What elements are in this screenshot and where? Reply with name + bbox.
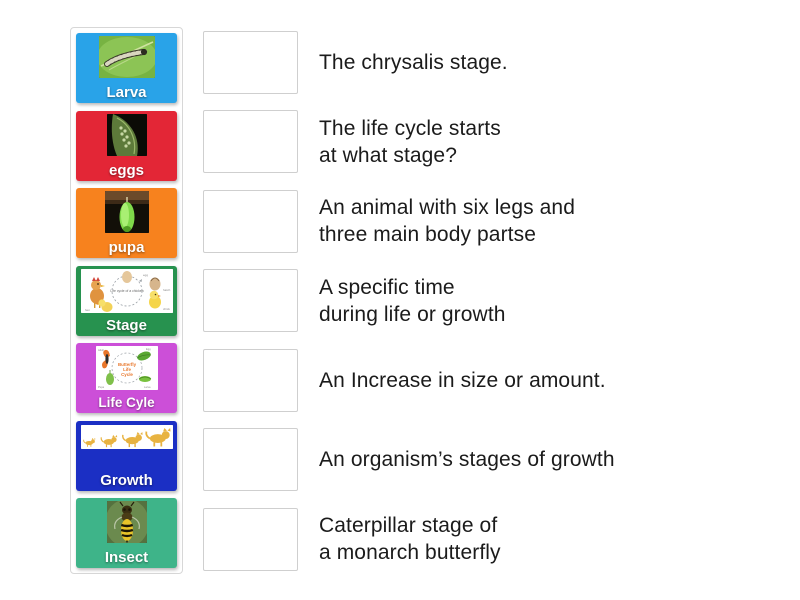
dropbox-5[interactable] [203, 428, 298, 491]
tile-label: Stage [76, 317, 177, 335]
green-chrysalis-icon [105, 191, 149, 233]
matching-activity-screen: Larva eggs [0, 0, 800, 600]
tile-insect[interactable]: Insect [76, 498, 177, 568]
svg-text:Pupa: Pupa [98, 385, 105, 389]
cat-growth-stages-diagram-icon [81, 425, 173, 449]
definition-text: An organism’s stages of growth [319, 446, 615, 473]
tile-growth[interactable]: Growth [76, 421, 177, 491]
svg-text:hen: hen [85, 308, 90, 312]
definition-text: The life cycle starts at what stage? [319, 115, 501, 169]
definition-text: An animal with six legs and three main b… [319, 194, 575, 248]
match-row: The life cycle starts at what stage? [203, 107, 763, 177]
tile-label: pupa [76, 239, 177, 257]
definition-text: Caterpillar stage of a monarch butterfly [319, 512, 501, 566]
tile-label: Larva [76, 84, 177, 102]
tile-panel: Larva eggs [70, 27, 183, 574]
dropbox-6[interactable] [203, 508, 298, 571]
definition-text: An Increase in size or amount. [319, 367, 606, 394]
svg-text:hatch: hatch [163, 288, 171, 292]
dropbox-0[interactable] [203, 31, 298, 94]
svg-text:Cycle: Cycle [121, 372, 133, 377]
match-row: Caterpillar stage of a monarch butterfly [203, 504, 763, 574]
caterpillar-on-leaf-icon [99, 36, 155, 78]
svg-text:Adult: Adult [98, 348, 104, 352]
tile-larva[interactable]: Larva [76, 33, 177, 103]
dropbox-4[interactable] [203, 349, 298, 412]
definition-rows: The chrysalis stage. The life cycle star… [203, 27, 763, 574]
svg-text:Larva: Larva [144, 385, 151, 389]
definition-text: A specific time during life or growth [319, 274, 506, 328]
tile-pupa[interactable]: pupa [76, 188, 177, 258]
svg-text:egg: egg [143, 273, 148, 277]
svg-text:chick: chick [163, 307, 170, 311]
match-row: A specific time during life or growth [203, 266, 763, 336]
definition-text: The chrysalis stage. [319, 49, 508, 76]
dropbox-2[interactable] [203, 190, 298, 253]
tile-eggs[interactable]: eggs [76, 111, 177, 181]
tile-label: eggs [76, 162, 177, 180]
dropbox-1[interactable] [203, 110, 298, 173]
match-row: An animal with six legs and three main b… [203, 186, 763, 256]
match-row: An Increase in size or amount. [203, 345, 763, 415]
tile-label: Life Cyle [76, 394, 177, 412]
butterfly-life-cycle-diagram-icon: Butterfly Life Cycle Adult Egg Larva Pup… [96, 346, 158, 390]
dropbox-3[interactable] [203, 269, 298, 332]
match-row: An organism’s stages of growth [203, 425, 763, 495]
tile-life-cycle[interactable]: Butterfly Life Cycle Adult Egg Larva Pup… [76, 343, 177, 413]
svg-text:Life cycle of a chicken: Life cycle of a chicken [110, 289, 143, 293]
tile-label: Growth [76, 472, 177, 490]
svg-text:Egg: Egg [146, 347, 151, 351]
match-row: The chrysalis stage. [203, 27, 763, 97]
wasp-insect-icon [107, 501, 147, 543]
chicken-life-cycle-diagram-icon: Life cycle of a chicken egg hatch chick … [81, 269, 173, 313]
butterfly-eggs-on-leaf-icon [107, 114, 147, 156]
tile-stage[interactable]: Life cycle of a chicken egg hatch chick … [76, 266, 177, 336]
tile-label: Insect [76, 549, 177, 567]
